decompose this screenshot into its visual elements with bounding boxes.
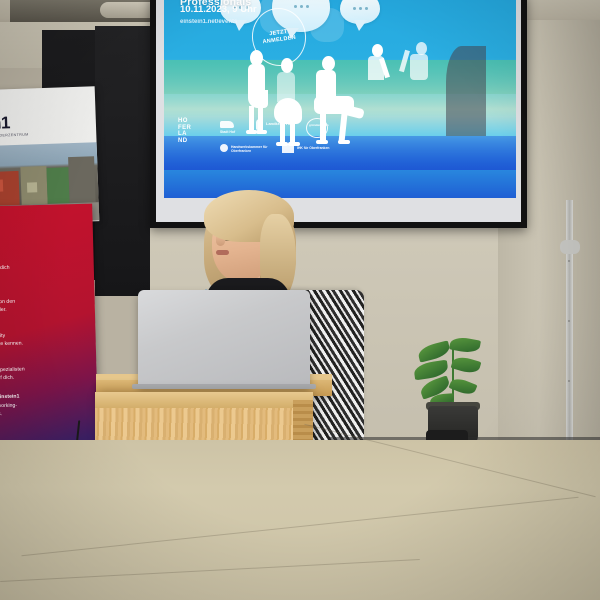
banner-white-logo: in1 — [0, 113, 10, 134]
mouth — [216, 250, 229, 255]
macbook-laptop[interactable] — [138, 290, 310, 386]
sponsor-label-ihk: IHK für Oberfranken — [297, 146, 337, 150]
apple-logo-icon — [208, 328, 234, 358]
sponsor-label-stadt-hof: Stadt Hof — [220, 130, 235, 134]
banner-red-line: …schaften wartet auf dich. — [0, 373, 83, 384]
banner-red-line: …n Vorhaben. — [0, 239, 79, 250]
photo-scene: Für Gründer, Startups und Professionals … — [0, 0, 600, 600]
sponsor-label-hwk: Handwerkskammer für Oberfranken — [231, 145, 275, 153]
sponsor-mark-landkreis-hof — [256, 119, 263, 130]
sponsor-label-landkreis-hof: Landkreis Hof — [266, 122, 293, 127]
sponsor-mark-stadt-hof — [220, 121, 234, 128]
sponsor-mark-gruenderraum — [306, 118, 328, 138]
sponsor-logo-hoferland: HOFERLAND — [178, 118, 191, 145]
sponsor-mark-ihk — [282, 144, 294, 153]
banner-red-line: …ngsfragen. — [0, 271, 80, 282]
slide-url: einstein1.net/events — [180, 19, 237, 25]
banner-red-line: …nd lerne neue Leute kennen. — [0, 339, 82, 350]
banner-white-subtitle: GRÜNDERZENTRUM — [0, 133, 29, 138]
banner-red-line: …erfolgreicher Gründer. — [0, 305, 81, 316]
podium-top-edge — [95, 392, 313, 408]
sponsor-label-gruenderraum: gründer raum — [309, 124, 329, 128]
sponsor-logo-row: HOFERLAND Stadt Hof Landkreis Hof gründe… — [178, 118, 398, 166]
sponsor-mark-hwk — [220, 144, 228, 152]
tripod-knob — [560, 240, 580, 254]
banner-red-line: … und coolen Büros. — [0, 409, 84, 420]
slide-datetime: 10.11.2023, 9 Uhr — [180, 4, 257, 15]
floor — [0, 440, 600, 600]
laptop-base-edge — [132, 384, 316, 389]
projected-slide: Für Gründer, Startups und Professionals … — [164, 0, 516, 198]
cta-badge-label: JETZT ANMELDEN — [252, 27, 305, 48]
